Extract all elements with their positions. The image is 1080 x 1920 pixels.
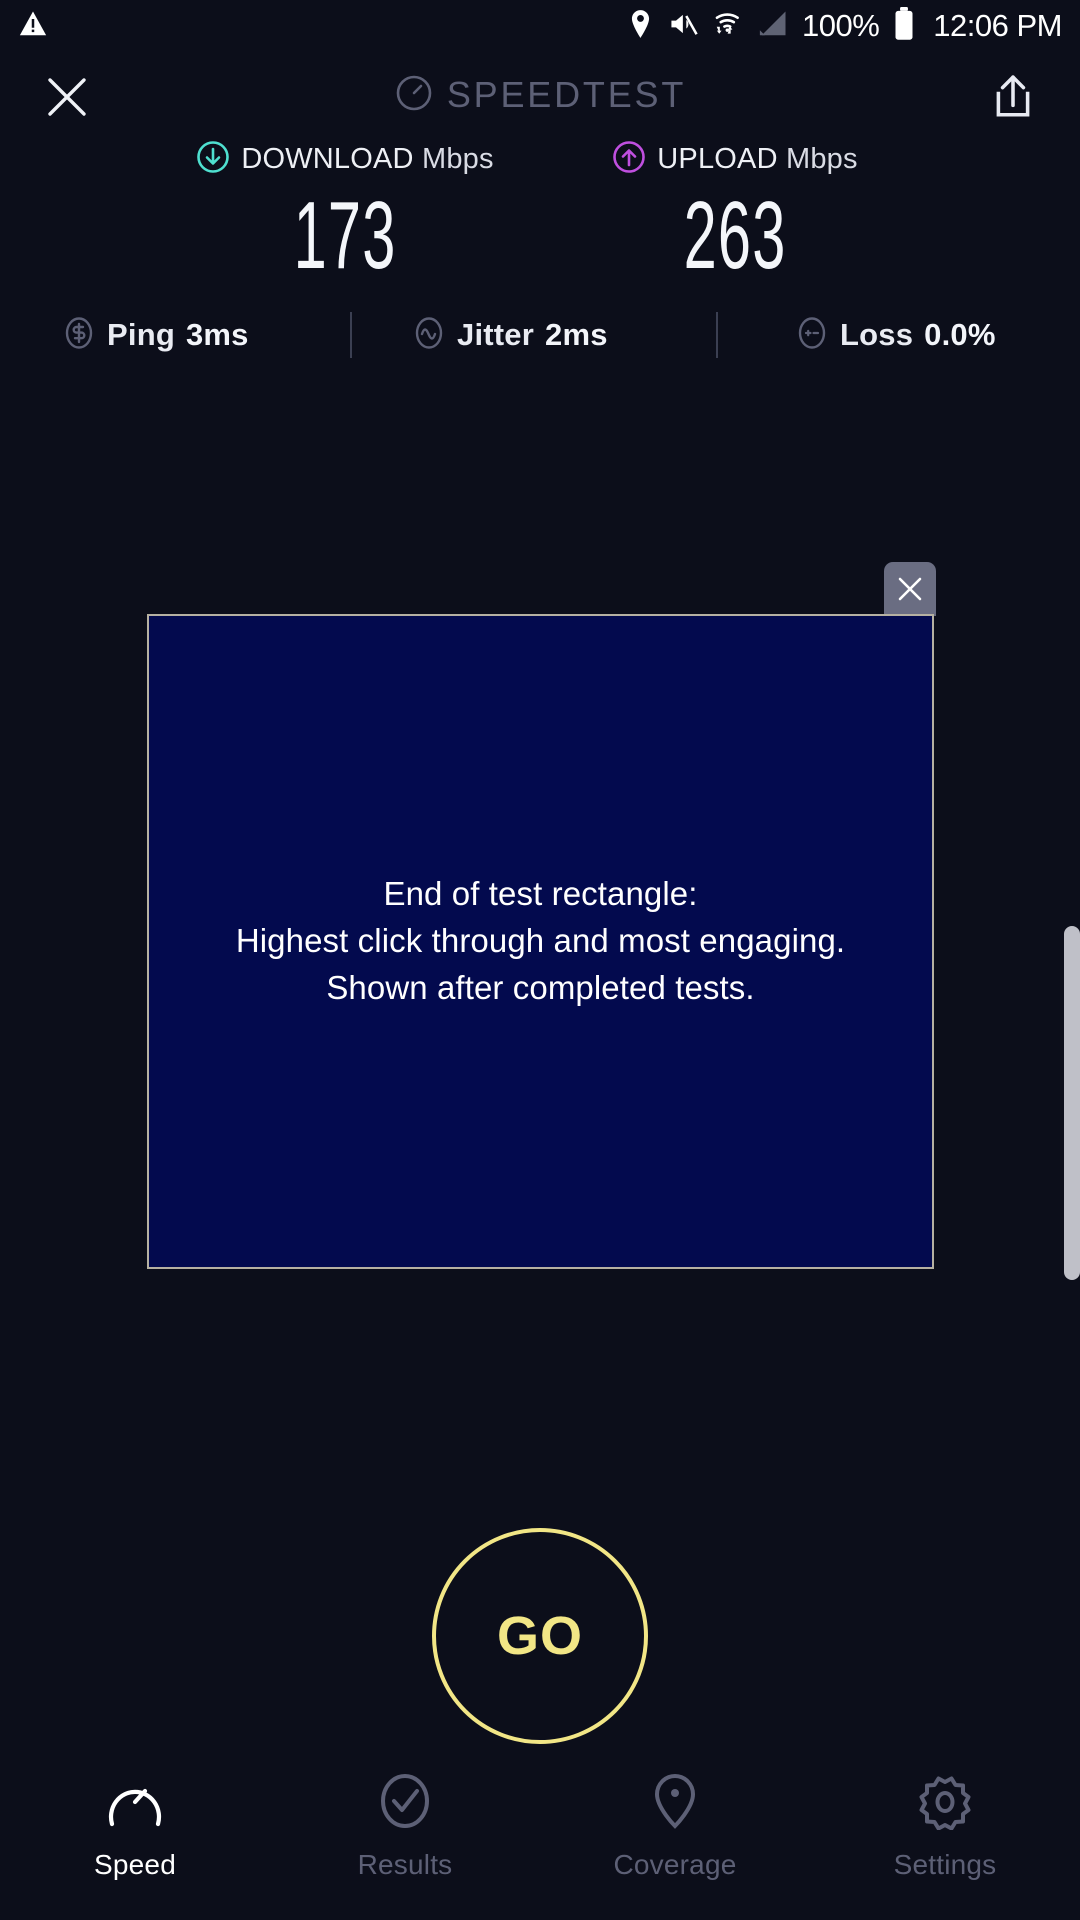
nav-item-results[interactable]: Results bbox=[270, 1772, 540, 1881]
status-bar-right: 100% 12:06 PM bbox=[627, 7, 1062, 46]
jitter-icon bbox=[412, 316, 446, 355]
download-label: DOWNLOAD Mbps bbox=[241, 143, 493, 176]
metric-loss-label: Loss bbox=[840, 317, 913, 353]
metric-loss: Loss 0.0% bbox=[795, 316, 996, 355]
speedometer-nav-icon bbox=[104, 1772, 166, 1835]
upload-arrow-icon bbox=[612, 140, 646, 179]
ping-icon bbox=[62, 316, 96, 355]
metric-jitter-label: Jitter bbox=[457, 317, 534, 353]
nav-item-settings[interactable]: Settings bbox=[810, 1772, 1080, 1881]
status-bar: 100% 12:06 PM bbox=[0, 0, 1080, 52]
status-bar-left bbox=[18, 9, 48, 44]
metric-loss-value: 0.0% bbox=[924, 317, 995, 353]
go-button-label: GO bbox=[497, 1605, 583, 1667]
map-pin-icon bbox=[644, 1772, 706, 1835]
metric-ping: Ping 3ms bbox=[62, 316, 249, 355]
status-bar-clock: 12:06 PM bbox=[933, 8, 1062, 44]
download-value: 173 bbox=[293, 187, 396, 285]
upload-label: UPLOAD Mbps bbox=[657, 143, 857, 176]
speedometer-icon bbox=[394, 73, 434, 118]
ad-line-3: Shown after completed tests. bbox=[236, 965, 845, 1012]
brand-logo: SPEEDTEST bbox=[0, 52, 1080, 138]
nav-label-results: Results bbox=[358, 1849, 453, 1881]
volume-mute-icon bbox=[668, 9, 700, 44]
nav-label-coverage: Coverage bbox=[613, 1849, 736, 1881]
battery-full-icon bbox=[893, 7, 915, 46]
close-x-icon bbox=[44, 74, 90, 120]
vertical-scrollbar[interactable] bbox=[1064, 926, 1080, 1280]
share-upload-icon bbox=[990, 73, 1036, 121]
ad-text: End of test rectangle: Highest click thr… bbox=[236, 871, 845, 1012]
warning-triangle-icon bbox=[18, 9, 48, 44]
brand-title: SPEEDTEST bbox=[447, 74, 686, 116]
upload-value: 263 bbox=[683, 187, 786, 285]
metric-ping-label: Ping bbox=[107, 317, 175, 353]
upload-result: UPLOAD Mbps 263 bbox=[540, 140, 930, 285]
share-button[interactable] bbox=[984, 68, 1042, 126]
metric-ping-value: 3ms bbox=[186, 317, 249, 353]
metric-divider-2 bbox=[716, 312, 718, 358]
nav-label-settings: Settings bbox=[894, 1849, 997, 1881]
metric-jitter-value: 2ms bbox=[545, 317, 608, 353]
gear-icon bbox=[914, 1772, 976, 1835]
bottom-navigation: Speed Results Coverage bbox=[0, 1760, 1080, 1920]
location-pin-icon bbox=[627, 9, 654, 44]
nav-item-speed[interactable]: Speed bbox=[0, 1772, 270, 1881]
ad-close-button[interactable] bbox=[884, 562, 936, 616]
check-circle-icon bbox=[374, 1772, 436, 1835]
results-summary: DOWNLOAD Mbps 173 UPLOAD Mbps 263 bbox=[0, 140, 1080, 285]
download-label-row: DOWNLOAD Mbps bbox=[196, 140, 493, 179]
cellular-signal-icon bbox=[758, 10, 788, 43]
app-header: SPEEDTEST bbox=[0, 52, 1080, 138]
ad-close-icon bbox=[895, 574, 925, 604]
nav-label-speed: Speed bbox=[94, 1849, 176, 1881]
download-result: DOWNLOAD Mbps 173 bbox=[150, 140, 540, 285]
metric-jitter: Jitter 2ms bbox=[412, 316, 608, 355]
battery-percent-label: 100% bbox=[802, 8, 879, 44]
metric-divider-1 bbox=[350, 312, 352, 358]
ad-line-2: Highest click through and most engaging. bbox=[236, 918, 845, 965]
go-button[interactable]: GO bbox=[432, 1528, 648, 1744]
advertisement-banner[interactable]: End of test rectangle: Highest click thr… bbox=[147, 614, 934, 1269]
metrics-row: Ping 3ms Jitter 2ms Los bbox=[0, 305, 1080, 365]
speedtest-app-screen: 100% 12:06 PM SPEEDTEST bbox=[0, 0, 1080, 1920]
wifi-icon bbox=[714, 8, 744, 45]
download-arrow-icon bbox=[196, 140, 230, 179]
nav-item-coverage[interactable]: Coverage bbox=[540, 1772, 810, 1881]
loss-icon bbox=[795, 316, 829, 355]
upload-label-row: UPLOAD Mbps bbox=[612, 140, 857, 179]
ad-line-1: End of test rectangle: bbox=[236, 871, 845, 918]
close-button[interactable] bbox=[38, 68, 96, 126]
